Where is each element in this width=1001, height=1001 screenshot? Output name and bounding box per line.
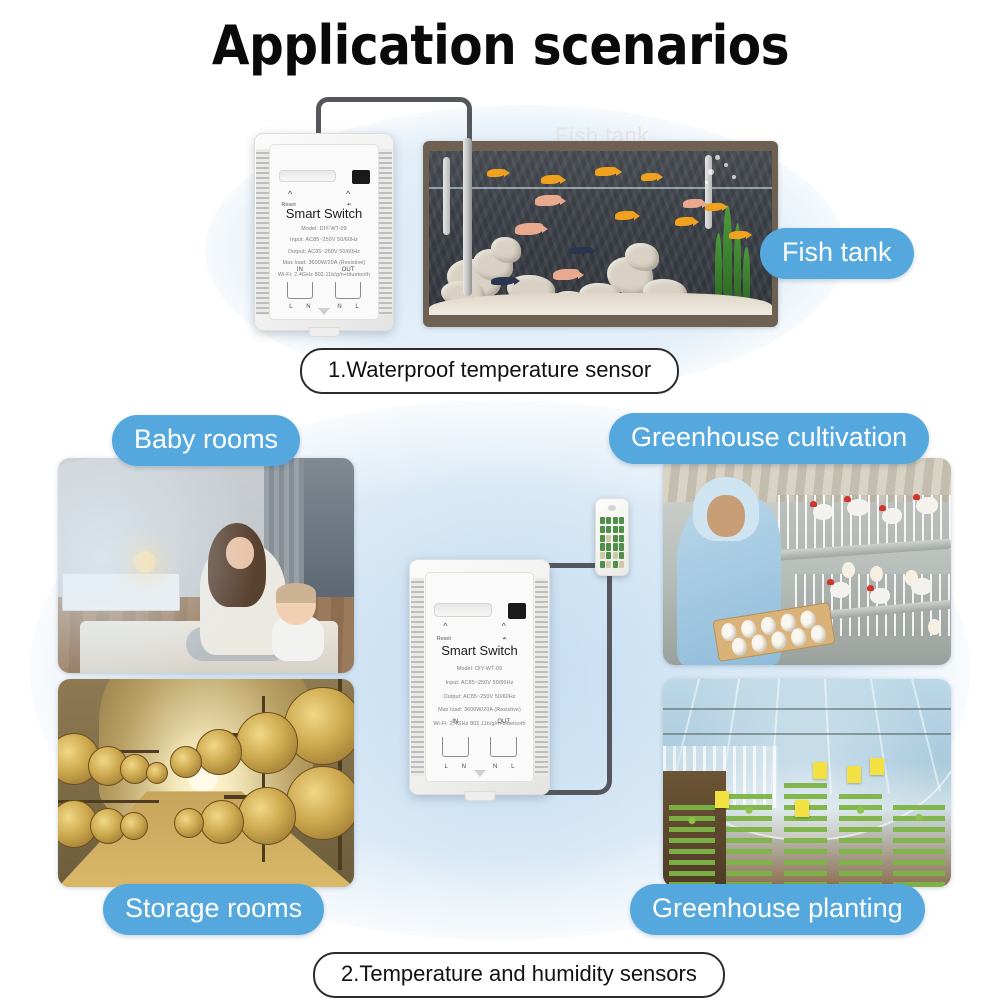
worker-face [707,495,745,537]
badge-greenhouse-planting[interactable]: Greenhouse planting [630,884,925,935]
device-spec-model: Model: DIY-WT-09 [425,666,535,672]
device-terminals: IN L N OUT N L [282,267,365,309]
terminal-group-in: IN L N [438,719,473,769]
tank-plant [715,233,722,301]
device-slider[interactable] [434,603,491,617]
baby-hair [276,583,316,603]
storage-room-photo [58,679,354,887]
device-vent-left [411,578,424,776]
sensor-mount-hole [608,505,616,511]
egg [870,566,883,582]
tank-fish [729,231,747,239]
wine-barrel [286,766,354,840]
infographic-canvas: Application scenarios Fish tank [0,0,1001,1001]
yellow-sticky-trap [813,762,827,779]
tank-plant [743,247,750,301]
tank-bubble [705,181,708,184]
yellow-sticky-trap [795,800,809,817]
device-vent-right [535,578,548,776]
device-terminals: IN L N OUT N L [438,719,522,769]
reset-chevron-icon: ^ [288,190,292,199]
tank-bubble [732,175,736,179]
terminal-out-label: OUT [331,267,366,273]
wine-barrel [196,729,242,775]
egg [842,562,855,578]
device-spec-output: Output: AC85~250V 50/60Hz [425,694,535,700]
badge-baby-rooms[interactable]: Baby rooms [112,415,300,466]
pin-l: L [289,304,292,310]
yellow-sticky-trap [847,766,861,783]
wifi-chevron-icon: ^ [346,190,350,199]
page-title: Application scenarios [0,14,1001,77]
device-spec-model: Model: DIY-WT-09 [269,226,378,232]
tank-fish [615,211,635,220]
poultry-farm-photo [663,458,951,665]
terminal-group-out: OUT N L [486,719,521,769]
terminal-in-pins: L N [282,304,317,310]
wine-barrel [174,808,204,838]
wine-barrel [238,787,296,845]
smart-switch-device-top[interactable]: ^ Reset ^ ☙ Smart Switch Model: DIY-WT-0… [254,133,394,331]
terminal-group-out: OUT N L [331,267,366,309]
wine-barrel [236,712,298,774]
tank-bubble [724,163,728,167]
wifi-chevron-icon: ^ [502,622,506,631]
tank-substrate [429,293,772,315]
tank-fish [683,199,703,208]
greenhouse-photo [663,679,951,887]
hen [882,508,902,524]
waterproof-probe-tip [463,138,472,296]
tank-heater-right [705,155,712,229]
tank-bubble [708,169,714,175]
seedling-row [669,804,715,887]
device-indicator-window [352,170,369,183]
pin-n: N [337,304,341,310]
baby-room-photo [58,458,354,673]
device-spec-input: Input: AC85~250V 50/60Hz [425,680,535,686]
smart-switch-device-main[interactable]: ^ Reset ^ ☙ Smart Switch Model: DIY-WT-0… [409,559,550,795]
device-arrow-icon [474,770,486,777]
greenhouse-beam [663,708,951,710]
device-face: ^ Reset ^ ☙ Smart Switch Model: DIY-WT-0… [269,144,378,320]
egg [731,637,749,657]
terminal-in-label: IN [282,267,317,273]
tank-fish [487,169,505,177]
tank-fish [641,173,658,181]
caption-section-2: 2.Temperature and humidity sensors [313,952,725,998]
greenhouse-beam [663,733,951,735]
device-mount-tab [464,791,495,801]
wifi-icon: ☙ [502,636,507,642]
yellow-sticky-trap [715,791,729,808]
egg [750,633,768,653]
tank-bubble [715,155,720,160]
yellow-sticky-trap [870,758,884,775]
tank-plant [723,205,732,301]
pin-n: N [462,764,466,770]
badge-fish-tank[interactable]: Fish tank [760,228,914,279]
caption-section-1: 1.Waterproof temperature sensor [300,348,679,394]
terminal-group-in: IN L N [282,267,317,309]
terminal-out-pins: N L [486,764,521,770]
device-arrow-icon [318,308,330,315]
device-brand: Smart Switch [425,643,535,658]
pin-n: N [306,304,310,310]
terminal-in-pins: L N [438,764,473,770]
pin-l: L [445,764,448,770]
device-face: ^ Reset ^ ☙ Smart Switch Model: DIY-WT-0… [425,572,535,782]
hen [813,504,833,520]
terminal-in-bracket [442,737,469,757]
tank-glass [429,151,772,315]
seedling-row [784,783,827,887]
tank-fish [569,247,591,254]
egg [810,624,828,644]
sensor-vent-grid [600,517,624,568]
terminal-in-label: IN [438,719,473,725]
wine-barrel [200,800,244,844]
badge-storage-rooms[interactable]: Storage rooms [103,884,324,935]
pin-n: N [493,764,497,770]
tank-fish [535,195,561,206]
egg [770,630,788,650]
device-vent-right [379,149,392,315]
pin-l: L [511,764,514,770]
temperature-humidity-sensor [595,498,629,576]
tank-fish [675,217,694,226]
tank-waterline [429,187,772,189]
terminal-out-pins: N L [331,304,366,310]
device-indicator-window [508,603,526,619]
badge-greenhouse-cultivation[interactable]: Greenhouse cultivation [609,413,929,464]
terminal-out-label: OUT [486,719,521,725]
tank-fish [515,223,543,235]
egg [905,570,918,586]
reset-label: Reset [437,636,451,642]
terminal-in-bracket [287,282,314,299]
device-brand: Smart Switch [269,206,378,221]
device-spec-load: Max load: 3600W/20A (Resistive) [269,260,378,266]
reset-chevron-icon: ^ [443,622,447,631]
device-spec-input: Input: AC85~250V 50/60Hz [269,237,378,243]
device-spec-output: Output: AC85~250V 50/60Hz [269,249,378,255]
wine-barrel [120,812,148,840]
seedling-row [839,791,882,887]
fish-tank-photo [423,141,778,327]
wine-barrel [170,746,202,778]
terminal-out-bracket [335,282,362,299]
pin-l: L [355,304,358,310]
tank-fish [541,175,561,184]
device-mount-tab [309,327,340,337]
device-slider[interactable] [279,170,336,181]
tank-fish [595,167,617,176]
seedling-row [893,800,945,887]
device-spec-load: Max load: 3600W/20A (Resistive) [425,707,535,713]
device-vent-left [256,149,269,315]
seedling-row [726,791,772,887]
terminal-out-bracket [490,737,517,757]
tank-fish [491,277,515,285]
egg [790,627,808,647]
hen [830,582,850,598]
tank-heater-left [443,157,450,235]
tank-fish [553,269,579,280]
